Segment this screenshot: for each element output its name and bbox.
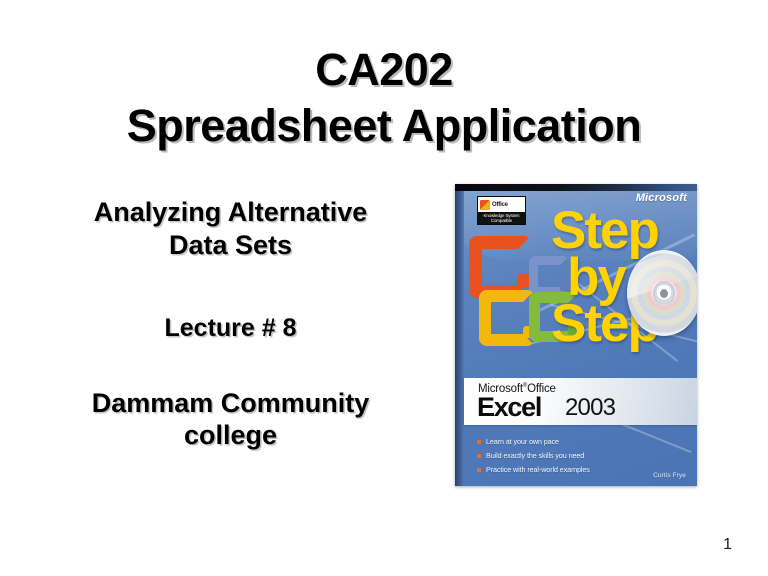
presentation-slide: CA202 Spreadsheet Application Analyzing …: [0, 0, 768, 576]
slide-text-column: Analyzing Alternative Data Sets Lecture …: [28, 196, 433, 452]
title-line-course-name: Spreadsheet Application: [0, 98, 768, 154]
title-line-course-code: CA202: [0, 42, 768, 98]
office-compatible-badge: Office Knowledge System Compatible: [477, 196, 526, 225]
slide-page-number: 1: [723, 536, 732, 554]
list-item: Learn at your own pace: [477, 436, 677, 448]
subtitle-line-2: Data Sets: [28, 229, 433, 262]
logo-square-red: [469, 236, 531, 298]
cover-spine-shadow: [455, 191, 464, 486]
cd-disc-icon: [627, 250, 697, 336]
product-year: 2003: [565, 396, 615, 420]
institution-line-1: Dammam Community: [28, 387, 433, 419]
cover-feature-list: Learn at your own pace Build exactly the…: [477, 436, 677, 478]
book-cover-image: Microsoft Office Knowledge System Compat…: [455, 184, 697, 486]
list-item: Practice with real-world examples: [477, 464, 677, 476]
lecture-number: Lecture # 8: [28, 314, 433, 343]
subtitle-line-1: Analyzing Alternative: [28, 196, 433, 229]
office-logo-icon: [480, 200, 490, 210]
page-title: CA202 Spreadsheet Application: [0, 42, 768, 154]
institution-line-2: college: [28, 419, 433, 451]
list-item: Build exactly the skills you need: [477, 450, 677, 462]
cd-center-hole: [660, 289, 668, 298]
slide-subtitle: Analyzing Alternative Data Sets: [28, 196, 433, 262]
product-app-name: Excel: [477, 394, 541, 421]
badge-logo-word: Office: [492, 202, 508, 208]
cover-author-name: Curtis Frye: [653, 472, 686, 479]
badge-tagline: Knowledge System Compatible: [478, 212, 525, 225]
badge-top-row: Office: [478, 197, 525, 212]
cover-top-edge: [455, 184, 697, 191]
product-title-band: Microsoft®Office Excel 2003: [464, 378, 697, 425]
institution-name: Dammam Community college: [28, 387, 433, 452]
